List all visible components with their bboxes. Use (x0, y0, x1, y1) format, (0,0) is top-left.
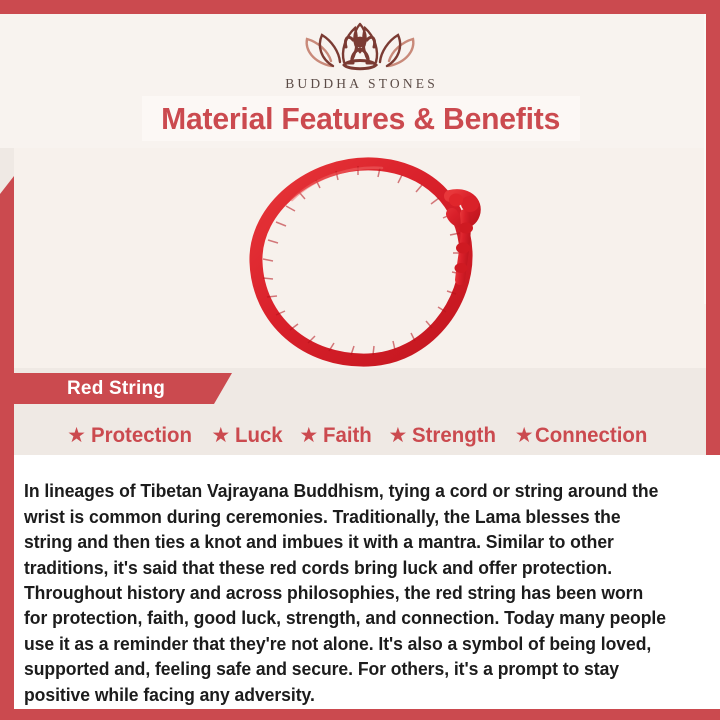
brand-name: BUDDHA STONES (0, 76, 720, 92)
benefit-label: Luck (235, 423, 283, 448)
star-icon: ★ (389, 425, 408, 446)
benefit-item: ★ Strength (389, 423, 501, 448)
red-string-bracelet-photo (222, 152, 502, 370)
benefit-item: ★ Connection (515, 423, 653, 448)
star-icon: ★ (67, 425, 86, 446)
benefit-item: ★ Luck (211, 423, 285, 448)
lotus-meditation-figure-icon (297, 18, 423, 74)
benefit-item: ★ Faith (299, 423, 374, 448)
benefit-label: Strength (412, 423, 496, 448)
infographic-page: BUDDHA STONES Material Features & Benefi… (0, 0, 720, 720)
title-banner: Material Features & Benefits (142, 96, 580, 141)
frame-bottom-border (0, 709, 720, 720)
star-icon: ★ (211, 425, 230, 446)
frame-top-border (0, 0, 720, 14)
page-title: Material Features & Benefits (162, 101, 561, 137)
benefit-label: Connection (535, 423, 647, 448)
benefits-list: ★ Protection ★ Luck ★ Faith ★ Strength ★… (14, 418, 706, 452)
benefit-item: ★ Protection (67, 423, 197, 448)
description-text: In lineages of Tibetan Vajrayana Buddhis… (24, 478, 668, 707)
star-icon: ★ (515, 425, 534, 446)
benefit-label: Protection (91, 423, 192, 448)
star-icon: ★ (299, 425, 318, 446)
product-label-banner: Red String (14, 373, 232, 404)
product-label: Red String (67, 378, 165, 400)
brand-logo: BUDDHA STONES (0, 18, 720, 92)
frame-left-border (0, 176, 14, 720)
benefit-label: Faith (323, 423, 372, 448)
